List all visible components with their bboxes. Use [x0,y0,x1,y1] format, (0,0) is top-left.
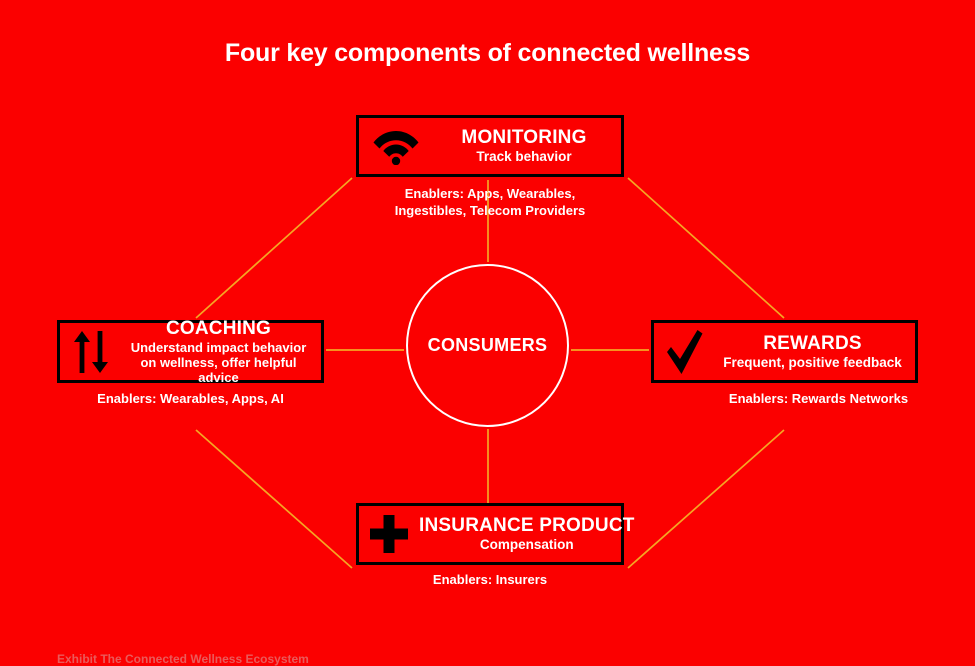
node-rewards-enabler: Enablers: Rewards Networks [687,390,950,407]
node-monitoring-text: MONITORING Track behavior [433,127,621,165]
checkmark-icon [654,330,716,374]
node-rewards-subtitle: Frequent, positive feedback [716,355,909,371]
node-rewards-box[interactable]: REWARDS Frequent, positive feedback [651,320,918,383]
footer-caption: Exhibit The Connected Wellness Ecosystem [57,652,309,666]
node-monitoring-subtitle: Track behavior [433,149,615,165]
consumers-circle[interactable]: CONSUMERS [406,264,569,427]
node-rewards-text: REWARDS Frequent, positive feedback [716,333,915,371]
diagram-canvas: Four key components of connected wellnes… [0,0,975,662]
node-coaching-subtitle: Understand impact behavior on wellness, … [122,340,315,385]
wifi-icon [359,127,433,165]
connector-monitoring-rewards [628,178,784,318]
plus-cross-icon [359,515,419,553]
node-monitoring-enabler: Enablers: Apps, Wearables, Ingestibles, … [332,185,648,219]
node-monitoring-box[interactable]: MONITORING Track behavior [356,115,624,177]
connector-rewards-insurance [628,430,784,568]
up-down-arrows-icon [60,331,122,373]
node-insurance-box[interactable]: INSURANCE PRODUCT Compensation [356,503,624,565]
node-rewards-title: REWARDS [716,333,909,355]
node-monitoring-title: MONITORING [433,127,615,149]
node-insurance-text: INSURANCE PRODUCT Compensation [419,515,641,553]
consumers-label: CONSUMERS [428,335,548,356]
node-coaching-box[interactable]: COACHING Understand impact behavior on w… [57,320,324,383]
node-coaching-enabler: Enablers: Wearables, Apps, AI [59,390,322,407]
node-insurance-subtitle: Compensation [419,537,635,553]
node-coaching-title: COACHING [122,318,315,340]
connector-monitoring-coaching [196,178,352,318]
node-insurance-title: INSURANCE PRODUCT [419,515,635,537]
node-insurance-enabler: Enablers: Insurers [356,571,624,588]
connector-coaching-insurance [196,430,352,568]
node-coaching-text: COACHING Understand impact behavior on w… [122,318,321,385]
